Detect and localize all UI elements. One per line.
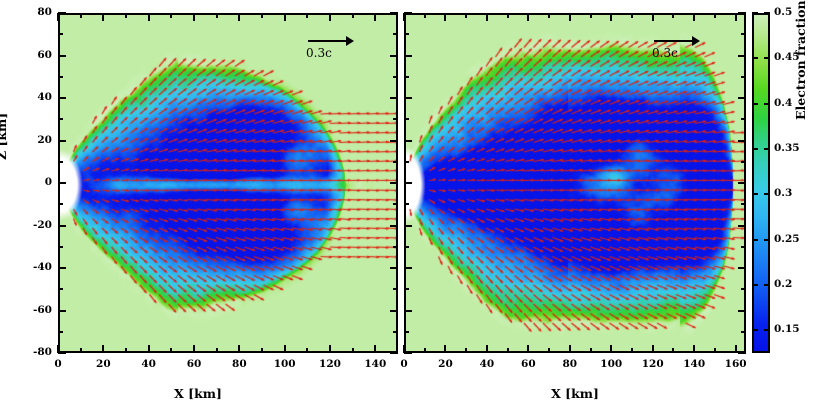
x-tick-minor [306, 348, 308, 353]
x-tick-major [527, 345, 529, 353]
x-tick-label: 40 [467, 358, 507, 370]
colorbar-tick-right [764, 148, 770, 150]
x-tick-label: 0 [38, 358, 78, 370]
y-tick-major-right [738, 267, 746, 269]
x-tick-major [652, 345, 654, 353]
y-tick-major [58, 97, 66, 99]
y-tick-major [58, 225, 66, 227]
y-tick-major-right [738, 182, 746, 184]
x-tick-minor [631, 348, 633, 353]
x-tick-label: 60 [508, 358, 548, 370]
x-tick-minor-top [590, 13, 592, 18]
y-tick-minor-right [741, 33, 746, 35]
y-tick-major-right [738, 12, 746, 14]
x-tick-label: 100 [265, 358, 305, 370]
y-tick-major-right [390, 12, 398, 14]
y-tick-minor [58, 76, 63, 78]
colorbar-tick-label: 0.5 [774, 6, 810, 18]
y-tick-minor-right [393, 203, 398, 205]
colorbar-tick-label: 0.35 [774, 142, 810, 154]
colorbar-tick [752, 148, 758, 150]
x-tick-minor [170, 348, 172, 353]
y-tick-minor [404, 76, 409, 78]
x-tick-major [693, 345, 695, 353]
y-tick-minor [404, 118, 409, 120]
y-tick-minor [404, 331, 409, 333]
x-tick-major-top [148, 13, 150, 21]
x-tick-minor-top [352, 13, 354, 18]
x-tick-major [444, 345, 446, 353]
velocity-scale-legend-left: 0.3c [302, 31, 370, 65]
x-tick-major [238, 345, 240, 353]
x-tick-label: 0 [384, 358, 424, 370]
colorbar-tick [752, 103, 758, 105]
x-axis-label-right: X [km] [551, 386, 599, 401]
y-tick-major [58, 182, 66, 184]
y-tick-major-right [738, 97, 746, 99]
y-tick-major-right [390, 225, 398, 227]
y-tick-minor [404, 203, 409, 205]
y-tick-label: 20 [18, 134, 52, 146]
x-tick-minor [352, 348, 354, 353]
x-tick-major-top [193, 13, 195, 21]
x-tick-minor [672, 348, 674, 353]
y-tick-label: 0 [18, 176, 52, 188]
x-tick-minor [507, 348, 509, 353]
colorbar-tick [752, 239, 758, 241]
velocity-scale-legend-right: 0.3c [648, 31, 716, 65]
x-tick-label: 20 [83, 358, 123, 370]
x-tick-major [148, 345, 150, 353]
x-tick-major-top [610, 13, 612, 21]
x-tick-major-top [486, 13, 488, 21]
x-tick-label: 120 [310, 358, 350, 370]
y-tick-major [404, 55, 412, 57]
x-tick-label: 140 [674, 358, 714, 370]
x-tick-major [329, 345, 331, 353]
y-tick-label: 80 [18, 6, 52, 18]
x-tick-label: 80 [550, 358, 590, 370]
y-tick-minor-right [741, 118, 746, 120]
x-tick-minor [714, 348, 716, 353]
x-tick-major [486, 345, 488, 353]
colorbar-tick-right [764, 284, 770, 286]
velocity-vector-overlay [60, 15, 396, 351]
y-tick-major-right [738, 140, 746, 142]
x-tick-minor [216, 348, 218, 353]
x-tick-label: 100 [591, 358, 631, 370]
colorbar[interactable] [752, 13, 770, 353]
x-tick-major-top [102, 13, 104, 21]
velocity-scale-label-left: 0.3c [306, 46, 332, 60]
x-tick-label: 120 [633, 358, 673, 370]
colorbar-tick [752, 193, 758, 195]
colorbar-tick [752, 12, 758, 14]
scale-arrow-head-icon [346, 36, 354, 46]
colorbar-tick-label: 0.25 [774, 233, 810, 245]
x-tick-minor [465, 348, 467, 353]
x-tick-major-top [374, 13, 376, 21]
x-tick-minor-top [306, 13, 308, 18]
y-tick-label: -40 [18, 261, 52, 273]
x-tick-major-top [444, 13, 446, 21]
y-tick-label: -20 [18, 219, 52, 231]
colorbar-tick-label: 0.4 [774, 97, 810, 109]
y-tick-minor-right [741, 331, 746, 333]
y-axis-label: Z [km] [0, 113, 9, 160]
colorbar-tick-right [764, 329, 770, 331]
y-tick-label: 40 [18, 91, 52, 103]
y-tick-major [404, 12, 412, 14]
colorbar-tick-label: 0.3 [774, 187, 810, 199]
y-tick-major [404, 352, 412, 354]
x-tick-minor [424, 348, 426, 353]
y-tick-major [404, 182, 412, 184]
y-tick-major [404, 97, 412, 99]
x-tick-major-top [527, 13, 529, 21]
y-tick-minor-right [393, 288, 398, 290]
y-tick-minor [58, 161, 63, 163]
y-tick-major-right [738, 55, 746, 57]
figure-canvas: 0.3c 0.3c Electron fraction Z [km] X [km… [0, 0, 830, 418]
x-tick-minor [590, 348, 592, 353]
y-tick-major-right [390, 55, 398, 57]
y-tick-minor-right [393, 331, 398, 333]
x-tick-minor [261, 348, 263, 353]
y-tick-major-right [738, 352, 746, 354]
heatmap-right [406, 15, 744, 351]
x-tick-major [610, 345, 612, 353]
colorbar-tick-right [764, 57, 770, 59]
y-tick-minor-right [393, 76, 398, 78]
x-tick-minor-top [507, 13, 509, 18]
x-tick-major [102, 345, 104, 353]
x-tick-minor-top [216, 13, 218, 18]
y-tick-minor [404, 246, 409, 248]
y-tick-major [404, 140, 412, 142]
colorbar-tick-right [764, 193, 770, 195]
x-tick-label: 80 [219, 358, 259, 370]
x-tick-minor-top [672, 13, 674, 18]
y-tick-minor-right [393, 118, 398, 120]
x-tick-minor-top [424, 13, 426, 18]
y-tick-label: -80 [18, 346, 52, 358]
y-tick-major-right [390, 182, 398, 184]
x-tick-major-top [329, 13, 331, 21]
scale-arrow-head-icon [692, 36, 700, 46]
x-axis-label-left: X [km] [174, 386, 222, 401]
y-tick-minor-right [741, 161, 746, 163]
colorbar-tick-label: 0.45 [774, 51, 810, 63]
x-tick-minor-top [170, 13, 172, 18]
y-tick-major [58, 267, 66, 269]
x-tick-minor-top [465, 13, 467, 18]
x-tick-major [193, 345, 195, 353]
y-tick-minor-right [393, 33, 398, 35]
x-tick-label: 40 [129, 358, 169, 370]
y-tick-minor [58, 203, 63, 205]
colorbar-tick [752, 57, 758, 59]
y-tick-minor-right [393, 161, 398, 163]
x-tick-major-top [57, 13, 59, 21]
y-tick-major-right [390, 267, 398, 269]
y-tick-major-right [738, 310, 746, 312]
y-tick-major-right [390, 352, 398, 354]
y-tick-major-right [390, 140, 398, 142]
x-tick-minor-top [125, 13, 127, 18]
x-tick-major-top [652, 13, 654, 21]
y-tick-major [58, 12, 66, 14]
colorbar-tick-right [764, 12, 770, 14]
x-tick-minor-top [714, 13, 716, 18]
x-tick-major-top [238, 13, 240, 21]
y-tick-major [58, 352, 66, 354]
x-tick-label: 60 [174, 358, 214, 370]
y-tick-major [58, 310, 66, 312]
y-tick-major-right [738, 225, 746, 227]
y-tick-major-right [390, 97, 398, 99]
scale-arrow-shaft-icon [654, 40, 694, 42]
y-tick-minor [404, 288, 409, 290]
x-tick-major [735, 345, 737, 353]
y-tick-label: -60 [18, 304, 52, 316]
plot-panel-left[interactable]: 0.3c [58, 13, 398, 353]
x-tick-minor [80, 348, 82, 353]
x-tick-major-top [693, 13, 695, 21]
colorbar-tick-right [764, 103, 770, 105]
x-tick-major-top [569, 13, 571, 21]
y-tick-minor [58, 118, 63, 120]
colorbar-tick [752, 284, 758, 286]
x-tick-minor-top [631, 13, 633, 18]
x-tick-label: 20 [425, 358, 465, 370]
x-tick-minor-top [261, 13, 263, 18]
y-tick-major-right [390, 310, 398, 312]
y-tick-minor-right [393, 246, 398, 248]
colorbar-tick-label: 0.2 [774, 278, 810, 290]
colorbar-tick-right [764, 239, 770, 241]
colorbar-tick [752, 329, 758, 331]
x-tick-minor [548, 348, 550, 353]
y-tick-minor-right [741, 203, 746, 205]
plot-panel-right[interactable]: 0.3c [404, 13, 746, 353]
x-tick-label: 160 [716, 358, 756, 370]
y-tick-major [58, 140, 66, 142]
velocity-vector-overlay [406, 15, 744, 351]
y-tick-minor [404, 33, 409, 35]
x-tick-major [374, 345, 376, 353]
y-tick-minor-right [741, 288, 746, 290]
y-tick-minor [58, 246, 63, 248]
x-tick-major-top [284, 13, 286, 21]
y-tick-minor [58, 288, 63, 290]
x-tick-minor-top [80, 13, 82, 18]
heatmap-left [60, 15, 396, 351]
y-tick-minor-right [741, 246, 746, 248]
y-tick-major [404, 225, 412, 227]
scale-arrow-shaft-icon [308, 40, 348, 42]
x-tick-major [284, 345, 286, 353]
x-tick-major-top [735, 13, 737, 21]
y-tick-minor-right [741, 76, 746, 78]
y-tick-minor [58, 331, 63, 333]
y-tick-label: 60 [18, 49, 52, 61]
x-tick-minor-top [548, 13, 550, 18]
x-tick-major-top [403, 13, 405, 21]
x-tick-minor [125, 348, 127, 353]
velocity-scale-label-right: 0.3c [652, 46, 678, 60]
y-tick-minor [58, 33, 63, 35]
x-tick-major [569, 345, 571, 353]
y-tick-major [58, 55, 66, 57]
y-tick-major [404, 267, 412, 269]
colorbar-tick-label: 0.15 [774, 323, 810, 335]
y-tick-minor [404, 161, 409, 163]
y-tick-major [404, 310, 412, 312]
